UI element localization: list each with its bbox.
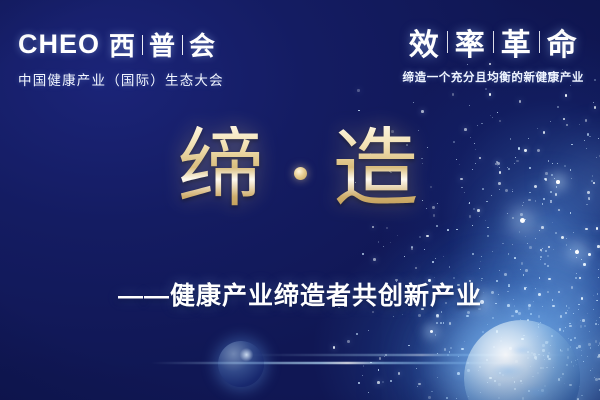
particle [390,380,392,382]
particle [520,213,523,216]
small-planet-icon [218,341,264,387]
particle [527,243,528,244]
particle [398,372,401,375]
particle [520,269,521,270]
particle [540,256,542,258]
slogan-divider-1 [447,31,448,53]
particle [542,248,543,249]
particle [595,323,597,325]
particle [413,102,414,103]
event-poster: CHEO 西 普 会 中国健康产业（国际）生态大会 效 率 革 命 缔造一个充分… [0,0,600,400]
particle [514,257,516,259]
particle [541,226,544,229]
particle [411,246,412,247]
particle [436,315,439,318]
particle [490,115,491,116]
particle [530,313,532,315]
particle [489,93,492,96]
particle [472,225,473,226]
particle [593,102,594,103]
particle [464,341,465,342]
particle [550,121,551,122]
particle [385,354,387,356]
brand-char-2: 普 [148,26,177,63]
brand-lockup: CHEO 西 普 会 中国健康产业（国际）生态大会 [18,26,224,89]
particle [570,212,571,213]
particle [363,365,364,366]
particle [411,247,413,249]
particle [548,246,550,248]
particle [447,354,449,356]
particle [435,258,436,259]
particle [432,261,434,263]
particle [584,325,586,327]
particle [538,315,541,318]
bright-star [575,250,579,254]
slogan-divider-2 [493,31,494,53]
particle [480,261,481,262]
earth-globe-icon [464,320,580,400]
main-title-char-left: 缔 [178,126,268,212]
particle [594,106,597,109]
brand-name-row: CHEO 西 普 会 [18,26,224,63]
particle [499,270,500,271]
particle [487,227,489,229]
main-title-char-right: 造 [333,126,423,212]
particle [443,256,445,258]
particle [370,362,372,364]
slogan-char-4: 命 [547,20,578,64]
particle [574,337,576,339]
particle [569,323,570,324]
particle [595,340,598,343]
particle [384,356,385,357]
particle [563,330,564,331]
particle [577,249,578,250]
particle [418,314,421,317]
particle [525,219,526,220]
particle [479,268,480,269]
particle [487,235,489,237]
particle [583,263,586,266]
particle [568,338,569,339]
particle [594,79,596,81]
particle [560,315,563,318]
particle [386,227,389,230]
particle [581,259,582,260]
particle [576,257,577,258]
particle [458,356,459,357]
particle [590,370,591,371]
particle [598,269,600,271]
particle [436,225,438,227]
particle [569,326,570,327]
particle [585,119,588,122]
particle [485,220,486,221]
brand-char-1: 西 [108,26,137,63]
particle [582,319,585,322]
particle [540,259,541,260]
particle [580,320,581,321]
particle [522,220,524,222]
particle [456,398,457,399]
particle [472,253,474,255]
particle [450,347,452,349]
particle [595,378,598,381]
particle [449,266,450,267]
particle [596,227,598,229]
particle [499,120,501,122]
particle [587,313,588,314]
particle [521,262,523,264]
particle [576,273,577,274]
particle [585,228,587,230]
particle [512,244,513,245]
particle [431,391,432,392]
particle [519,231,520,232]
particle [565,327,566,328]
particle [402,314,403,315]
particle [541,251,542,252]
particle [563,118,566,121]
particle [492,251,494,253]
slogan-block: 效 率 革 命 缔造一个充分且均衡的新健康产业 [403,20,585,85]
slogan-divider-3 [539,31,540,53]
particle [436,314,439,317]
particle [466,315,468,317]
particle [382,381,384,383]
particle [421,110,424,113]
particle [547,265,549,267]
particle [347,340,350,343]
particle [456,229,457,230]
particle [588,343,590,345]
slogan-char-2: 率 [455,20,486,64]
particle [492,317,493,318]
particle [553,249,554,250]
particle [417,386,418,387]
particle [393,316,394,317]
particle [428,396,431,399]
particle [440,322,442,324]
particle [492,117,493,118]
particle [570,339,572,341]
particle [565,94,568,97]
particle [508,253,510,255]
particle [469,215,472,218]
brand-char-3: 会 [188,26,217,63]
particle [449,322,451,324]
particle [589,331,590,332]
slogan-text: 效 率 革 命 [403,20,585,64]
particle [507,213,508,214]
particle [447,229,449,231]
particle [383,246,384,247]
particle [529,246,532,249]
particle [555,232,557,234]
particle [358,110,359,111]
bright-star [520,218,525,223]
main-title-separator-dot [294,167,307,180]
particle [481,123,482,124]
particle [390,242,391,243]
particle [378,241,380,243]
particle [373,258,376,261]
main-title: 缔 造 [0,126,600,212]
particle [362,253,363,254]
brand-divider-2 [182,35,183,55]
particle [426,235,429,238]
tagline: ——健康产业缔造者共创新产业 [0,276,600,312]
particle [525,269,528,272]
particle [518,312,521,315]
particle [368,330,369,331]
particle [487,324,488,325]
particle [573,313,574,314]
particle [485,88,487,90]
particle [482,331,484,333]
particle [368,392,369,393]
particle [570,85,571,86]
particle [497,112,498,113]
particle [590,347,591,348]
particle [570,249,571,250]
particle [545,250,547,252]
particle [580,325,582,327]
particle [592,368,593,369]
particle [578,345,581,348]
particle [512,217,515,220]
particle [333,346,336,349]
particle [547,255,548,256]
brand-latin-name: CHEO [18,29,100,60]
particle [457,372,460,375]
particle [415,267,418,270]
particle [581,355,582,356]
particle [356,333,358,335]
particle [594,377,595,378]
brand-chinese-name: 西 普 会 [108,26,217,63]
particle [419,236,421,238]
slogan-char-1: 效 [409,20,440,64]
particle [588,253,591,256]
particle [435,334,437,336]
particle [525,236,526,237]
particle [539,230,540,231]
particle [598,324,600,326]
particle [502,243,504,245]
slogan-char-3: 革 [501,20,532,64]
particle [596,320,597,321]
particle [379,357,382,360]
particle [452,93,454,95]
slogan-subtitle: 缔造一个充分且均衡的新健康产业 [403,69,585,85]
particle [479,216,480,217]
particle [408,345,409,346]
particle [377,381,380,384]
brand-divider-1 [142,35,143,55]
particle [583,361,584,362]
particle [397,235,398,236]
particle [597,245,600,248]
particle [424,249,425,250]
particle [358,382,360,384]
particle [443,322,445,324]
particle [576,347,578,349]
brand-subtitle: 中国健康产业（国际）生态大会 [18,69,224,89]
particle [437,377,438,378]
particle [598,345,599,346]
particle [469,105,470,106]
particle [579,124,580,125]
particle [436,322,438,324]
particle [540,249,542,251]
particle [535,238,536,239]
particle [461,348,464,351]
particle [404,256,405,257]
particle [557,106,559,108]
particle [372,226,374,228]
particle [433,214,435,216]
particle [559,328,562,331]
particle [544,263,546,265]
particle [561,236,564,239]
particle [481,256,482,257]
particle [581,395,583,397]
particle [566,238,567,239]
particle [519,100,522,103]
particle [444,348,446,350]
particle [552,222,553,223]
particle [416,368,417,369]
particle [573,232,574,233]
particle [587,356,588,357]
bright-star [430,330,433,333]
particle [437,353,438,354]
particle [566,244,568,246]
particle [569,325,572,328]
particle [446,397,448,399]
particle [449,351,451,353]
particle [511,315,514,318]
particle [362,375,363,376]
particle [418,383,420,385]
particle [583,361,584,362]
particle [378,369,380,371]
particle [581,350,582,351]
particle [357,89,359,91]
